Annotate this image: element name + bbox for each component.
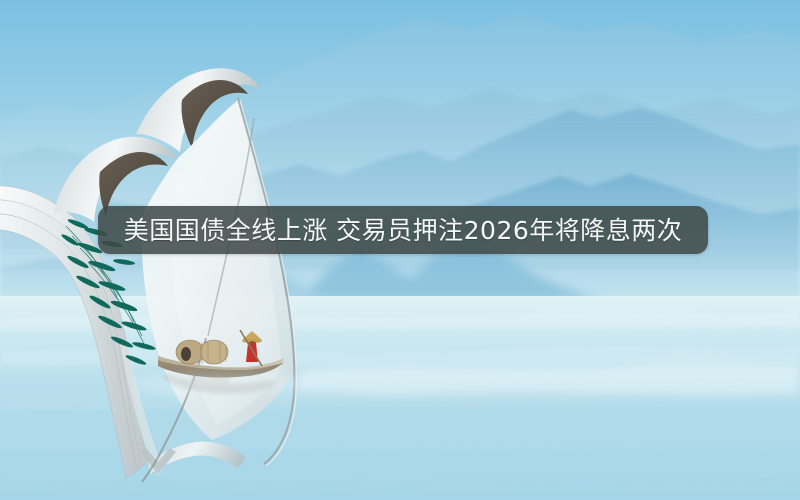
water-haze <box>130 372 310 396</box>
news-banner: 美国国债全线上涨 交易员押注2026年将降息两次 <box>0 0 800 500</box>
boat-canopy <box>176 340 228 364</box>
headline-text: 美国国债全线上涨 交易员押注2026年将降息两次 <box>124 218 683 243</box>
headline-plate: 美国国债全线上涨 交易员押注2026年将降息两次 <box>98 206 708 254</box>
